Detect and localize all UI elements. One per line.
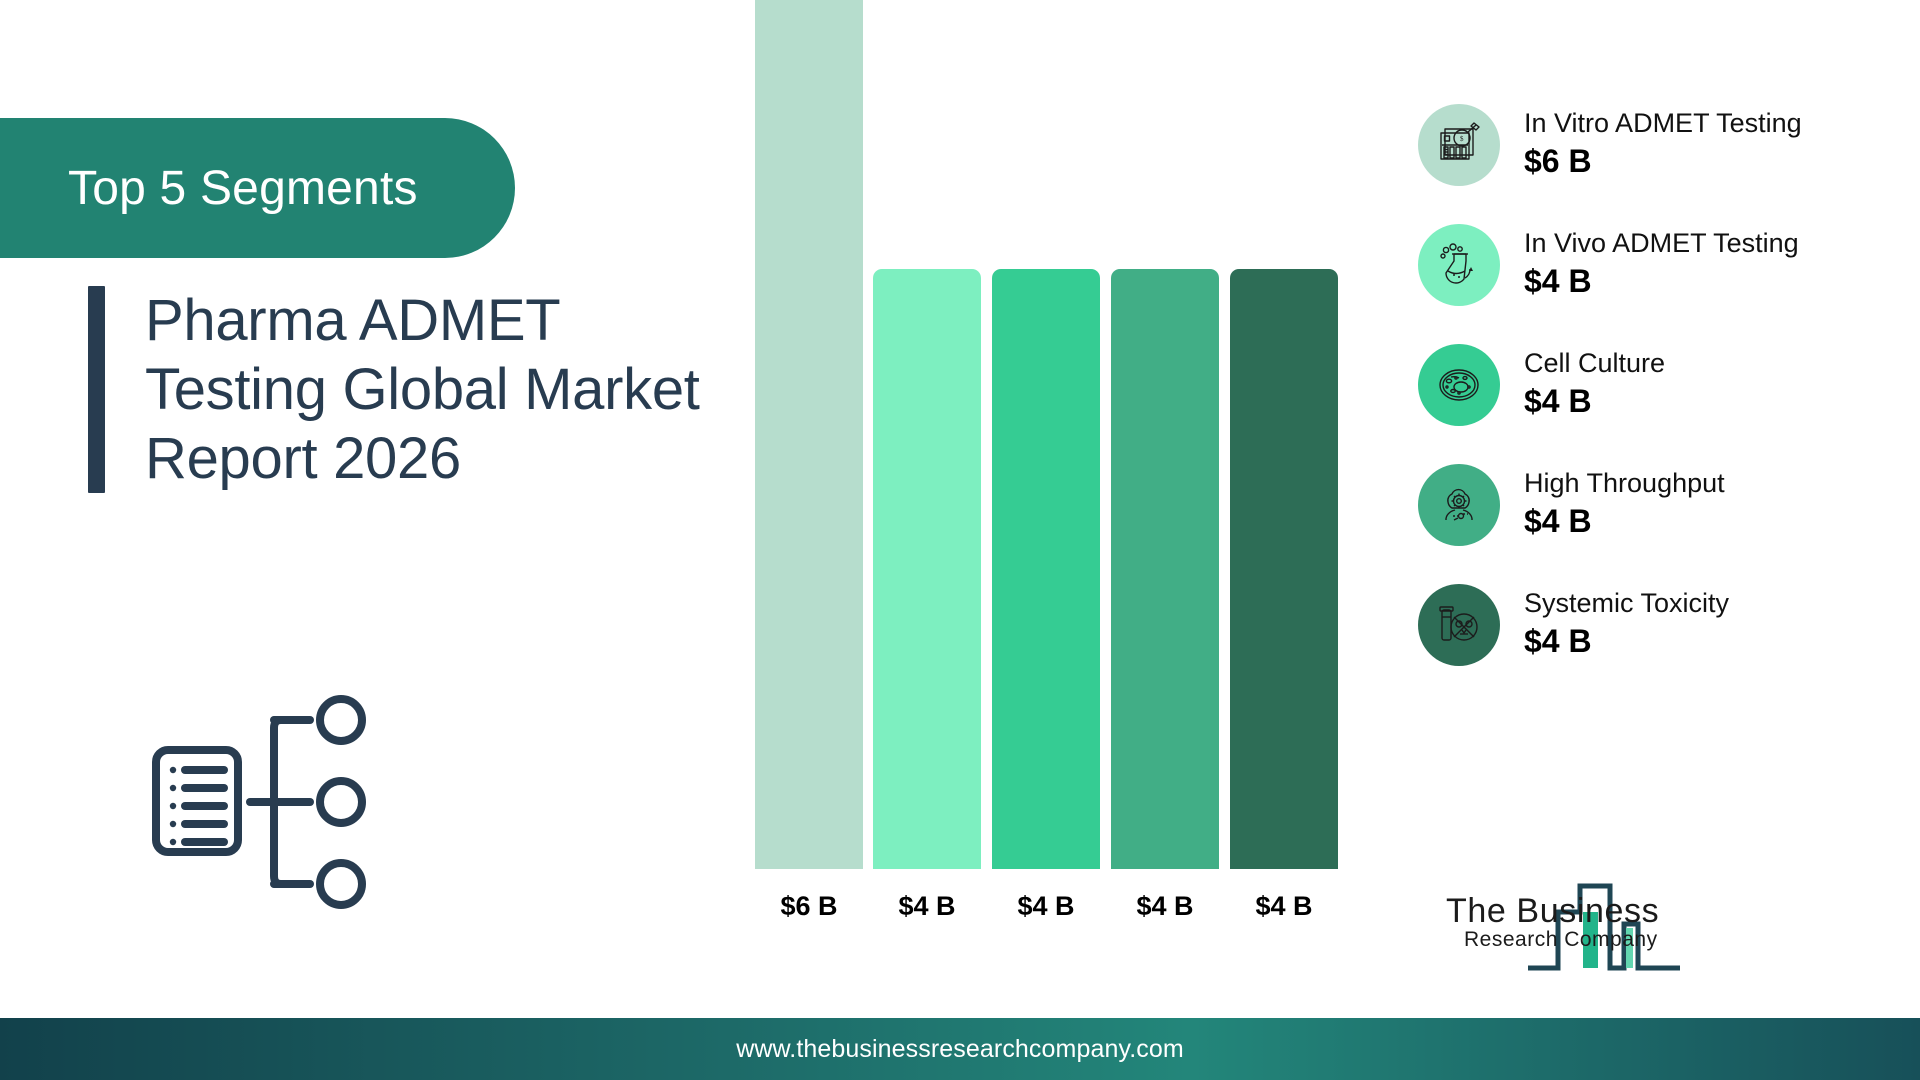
logo-line-2: Research Company [1464,928,1658,952]
legend-label: Systemic Toxicity [1524,587,1729,621]
bar-value-label: $6 B [780,891,837,922]
bar-value-label: $4 B [898,891,955,922]
bar-column: $6 B [755,0,863,922]
high-throughput-gear-icon [1418,464,1500,546]
bar-value-label: $4 B [1255,891,1312,922]
legend-value: $6 B [1524,141,1802,183]
legend-label: In Vivo ADMET Testing [1524,227,1799,261]
legend-value: $4 B [1524,501,1725,543]
company-logo: The Business Research Company [1440,866,1730,978]
infographic-canvas: Top 5 Segments Pharma ADMET Testing Glob… [0,0,1920,1080]
legend-item: High Throughput $4 B [1418,456,1898,554]
bar-column: $4 B [873,269,981,922]
toxicity-skull-icon [1418,584,1500,666]
legend-value: $4 B [1524,261,1799,303]
page-title: Pharma ADMET Testing Global Market Repor… [145,286,745,493]
footer-bar: www.thebusinessresearchcompany.com [0,1018,1920,1080]
legend-item: $ In Vitro ADMET Testing $6 B [1418,96,1898,194]
legend-label: Cell Culture [1524,347,1665,381]
bar-rect [755,0,863,869]
title-accent-bar [88,286,105,493]
in-vivo-flask-icon [1418,224,1500,306]
legend-value: $4 B [1524,621,1729,663]
bar-rect [1230,269,1338,869]
in-vitro-testing-icon: $ [1418,104,1500,186]
bar-column: $4 B [1111,269,1219,922]
badge-label: Top 5 Segments [0,161,418,216]
legend-item: In Vivo ADMET Testing $4 B [1418,216,1898,314]
petri-dish-icon [1418,344,1500,426]
logo-line-1: The Business [1446,892,1659,931]
segment-legend: $ In Vitro ADMET Testing $6 B [1418,96,1898,696]
report-title-block: Pharma ADMET Testing Global Market Repor… [88,286,745,493]
bar-rect [992,269,1100,869]
top-segments-badge: Top 5 Segments [0,118,515,258]
document-hierarchy-icon [150,690,380,935]
bar-rect [1111,269,1219,869]
legend-item: Cell Culture $4 B [1418,336,1898,434]
website-url[interactable]: www.thebusinessresearchcompany.com [736,1035,1184,1064]
legend-item: Systemic Toxicity $4 B [1418,576,1898,674]
legend-label: In Vitro ADMET Testing [1524,107,1802,141]
bar-value-label: $4 B [1017,891,1074,922]
svg-text:$: $ [1460,135,1464,143]
legend-label: High Throughput [1524,467,1725,501]
bar-column: $4 B [992,269,1100,922]
bar-column: $4 B [1230,269,1338,922]
bar-chart: $6 B $4 B $4 B $4 B $4 B [755,0,1355,1000]
bar-value-label: $4 B [1136,891,1193,922]
legend-value: $4 B [1524,381,1665,423]
bar-rect [873,269,981,869]
